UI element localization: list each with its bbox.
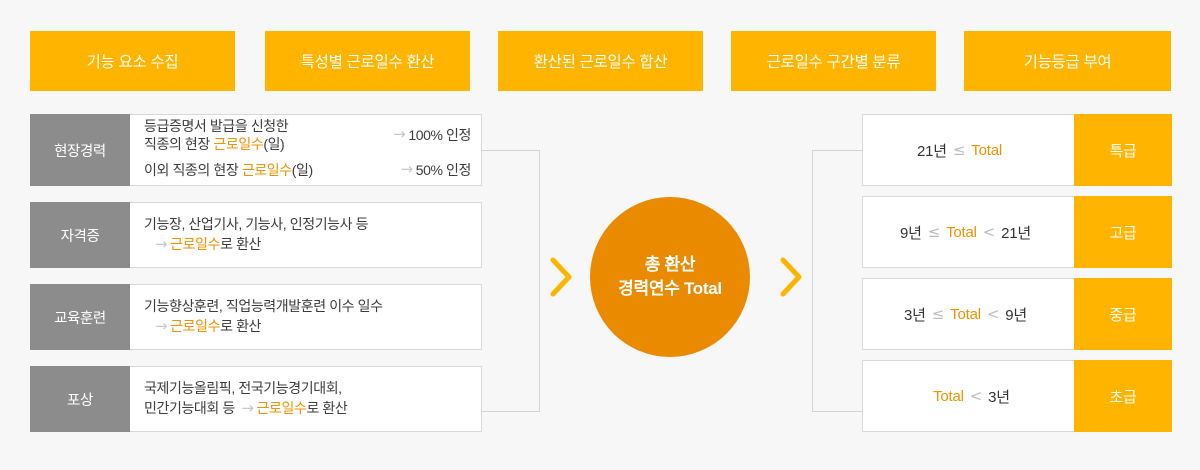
input-row-body: 국제기능올림픽, 전국기능경기대회, 민간기능대회 등 →근로일수로 환산 <box>130 367 481 431</box>
grade-total-word: Total <box>950 306 981 323</box>
step-chip-1: 기능 요소 수집 <box>30 31 235 91</box>
grade-condition: 9년 ≤ Total < 21년 <box>863 197 1074 267</box>
arrow-right-icon: → <box>398 159 416 181</box>
step-chip-5: 기능등급 부여 <box>964 31 1171 91</box>
step-label: 기능등급 부여 <box>1024 50 1112 72</box>
arrow-right-icon: → <box>152 317 170 335</box>
operator-lt-icon: < <box>964 387 988 405</box>
workdays-highlight: 근로일수 <box>257 400 307 416</box>
recognition-rate: 100% 인정 <box>408 125 471 145</box>
award-text-prefix: 민간기능대회 등 <box>144 400 238 416</box>
grade-total-word: Total <box>971 142 1002 159</box>
arrow-right-icon: → <box>390 124 408 146</box>
experience-result-secondary: → 50% 인정 <box>398 159 471 181</box>
conversion-suffix: 로 환산 <box>220 236 261 252</box>
step-chip-4: 근로일수 구간별 분류 <box>731 31 936 91</box>
conversion-suffix: 로 환산 <box>306 400 347 416</box>
grade-row-advanced: 9년 ≤ Total < 21년 고급 <box>862 196 1172 268</box>
grade-right-value: 9년 <box>1005 304 1027 325</box>
award-text: 국제기능올림픽, 전국기능경기대회, <box>144 378 471 398</box>
step-chip-2: 특성별 근로일수 환산 <box>265 31 470 91</box>
workdays-highlight: 근로일수 <box>213 136 263 152</box>
experience-text-a: 등급증명서 발급을 신청한 <box>144 118 288 134</box>
grade-badge: 중급 <box>1074 278 1172 350</box>
operator-lte-icon: ≤ <box>947 141 971 159</box>
circle-line-1: 총 환산 <box>645 253 695 277</box>
workdays-highlight: 근로일수 <box>170 318 220 334</box>
step-label: 환산된 근로일수 합산 <box>534 50 668 72</box>
operator-lte-icon: ≤ <box>926 305 950 323</box>
step-label: 기능 요소 수집 <box>87 50 179 72</box>
skill-grade-flow-diagram: 기능 요소 수집 특성별 근로일수 환산 환산된 근로일수 합산 근로일수 구간… <box>0 0 1200 470</box>
grade-left-value: 3년 <box>904 304 926 325</box>
experience-line-secondary-text: 이외 직종의 현장 근로일수(일) <box>144 160 398 180</box>
chevron-right-icon <box>778 255 804 299</box>
experience-other-text-c: (일) <box>292 162 313 178</box>
input-row-label: 현장경력 <box>30 114 130 186</box>
grade-left-value: 21년 <box>917 140 947 161</box>
training-text: 기능향상훈련, 직업능력개발훈련 이수 일수 <box>144 296 471 316</box>
grade-badge: 고급 <box>1074 196 1172 268</box>
experience-text-c: (일) <box>263 136 284 152</box>
input-row-body: 기능향상훈련, 직업능력개발훈련 이수 일수 →근로일수로 환산 <box>130 285 481 349</box>
grade-condition: Total < 3년 <box>863 361 1074 431</box>
circle-line-2: 경력연수 Total <box>618 277 722 301</box>
input-row-label: 포상 <box>30 366 130 432</box>
experience-line-primary: 등급증명서 발급을 신청한 직종의 현장 근로일수(일) → 100% 인정 <box>144 115 471 155</box>
grade-total-word: Total <box>946 224 977 241</box>
total-career-circle: 총 환산 경력연수 Total <box>590 197 750 357</box>
recognition-rate: 50% 인정 <box>416 160 471 180</box>
input-row-certificate: 자격증 기능장, 산업기사, 기능사, 인정기능사 등 →근로일수로 환산 <box>30 202 482 268</box>
input-row-body: 등급증명서 발급을 신청한 직종의 현장 근로일수(일) → 100% 인정 이… <box>130 115 481 185</box>
step-label: 근로일수 구간별 분류 <box>767 50 901 72</box>
experience-line-primary-text: 등급증명서 발급을 신청한 직종의 현장 근로일수(일) <box>144 117 390 154</box>
workdays-highlight: 근로일수 <box>170 236 220 252</box>
step-chip-3: 환산된 근로일수 합산 <box>498 31 703 91</box>
grade-row-beginner: Total < 3년 초급 <box>862 360 1172 432</box>
training-conversion: →근로일수로 환산 <box>144 316 471 338</box>
process-steps-bar: 기능 요소 수집 특성별 근로일수 환산 환산된 근로일수 합산 근로일수 구간… <box>0 31 1200 91</box>
chevron-right-icon <box>548 255 574 299</box>
grade-condition: 21년 ≤ Total <box>863 115 1074 185</box>
input-row-label: 자격증 <box>30 202 130 268</box>
operator-lt-icon: < <box>977 223 1001 241</box>
input-row-body: 기능장, 산업기사, 기능사, 인정기능사 등 →근로일수로 환산 <box>130 203 481 267</box>
workdays-highlight: 근로일수 <box>242 162 292 178</box>
grade-condition: 3년 ≤ Total < 9년 <box>863 279 1074 349</box>
award-conversion: 민간기능대회 등 →근로일수로 환산 <box>144 398 471 420</box>
certificate-text: 기능장, 산업기사, 기능사, 인정기능사 등 <box>144 214 471 234</box>
grade-badge: 특급 <box>1074 114 1172 186</box>
arrow-right-icon: → <box>152 235 170 253</box>
grade-row-intermediate: 3년 ≤ Total < 9년 중급 <box>862 278 1172 350</box>
grade-left-value: 9년 <box>900 222 922 243</box>
input-row-label: 교육훈련 <box>30 284 130 350</box>
operator-lte-icon: ≤ <box>922 223 946 241</box>
grade-badge: 초급 <box>1074 360 1172 432</box>
arrow-right-icon: → <box>238 399 256 417</box>
input-row-field-experience: 현장경력 등급증명서 발급을 신청한 직종의 현장 근로일수(일) → 100%… <box>30 114 482 186</box>
grade-right-value: 21년 <box>1001 222 1031 243</box>
connector-bracket-left <box>482 150 540 412</box>
certificate-conversion: →근로일수로 환산 <box>144 234 471 256</box>
input-row-training: 교육훈련 기능향상훈련, 직업능력개발훈련 이수 일수 →근로일수로 환산 <box>30 284 482 350</box>
input-row-award: 포상 국제기능올림픽, 전국기능경기대회, 민간기능대회 등 →근로일수로 환산 <box>30 366 482 432</box>
operator-lt-icon: < <box>981 305 1005 323</box>
experience-text-b: 직종의 현장 <box>144 136 213 152</box>
experience-result-primary: → 100% 인정 <box>390 124 471 146</box>
grade-total-word: Total <box>933 388 964 405</box>
grade-right-value: 3년 <box>988 386 1010 407</box>
step-label: 특성별 근로일수 환산 <box>301 50 435 72</box>
grade-row-special: 21년 ≤ Total 특급 <box>862 114 1172 186</box>
conversion-suffix: 로 환산 <box>220 318 261 334</box>
experience-other-text-a: 이외 직종의 현장 <box>144 162 242 178</box>
experience-line-secondary: 이외 직종의 현장 근로일수(일) → 50% 인정 <box>144 155 471 185</box>
